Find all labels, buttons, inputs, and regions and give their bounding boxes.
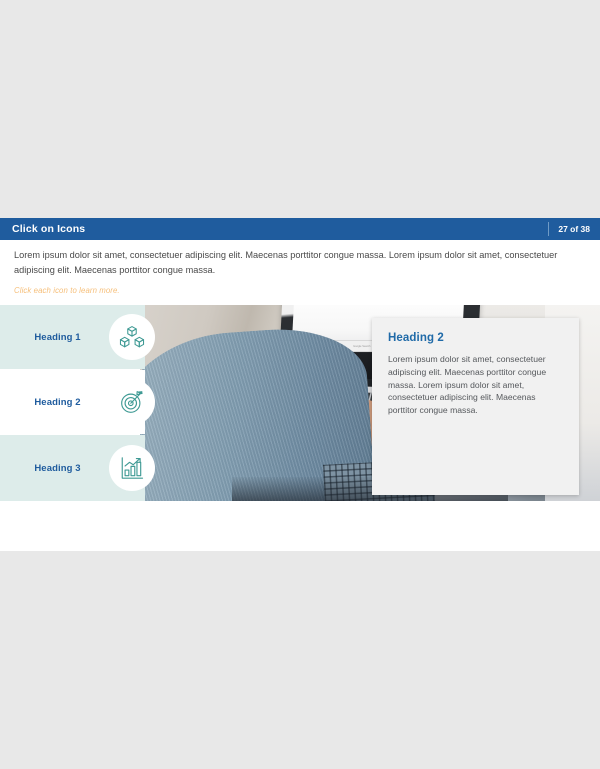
page-indicator: 27 of 38 bbox=[549, 224, 600, 234]
tab-heading-1[interactable]: Heading 1 bbox=[0, 305, 145, 369]
intro-block: Lorem ipsum dolor sit amet, consectetuer… bbox=[0, 240, 600, 295]
interactive-area: Google Search Heading 1 bbox=[0, 305, 600, 501]
intro-hint: Click each icon to learn more. bbox=[0, 277, 600, 295]
page-title: Click on Icons bbox=[0, 223, 548, 235]
slide-title-bar: Click on Icons 27 of 38 bbox=[0, 218, 600, 240]
cubes-stack-icon[interactable] bbox=[109, 314, 155, 360]
target-dart-icon[interactable] bbox=[109, 379, 155, 425]
info-card-heading: Heading 2 bbox=[388, 332, 563, 344]
info-card-body: Lorem ipsum dolor sit amet, consectetuer… bbox=[388, 353, 563, 417]
tab-heading-2[interactable]: Heading 2 bbox=[0, 370, 145, 434]
tab-heading-3[interactable]: Heading 3 bbox=[0, 435, 145, 501]
slide-canvas: Click on Icons 27 of 38 Lorem ipsum dolo… bbox=[0, 0, 600, 551]
intro-paragraph: Lorem ipsum dolor sit amet, consectetuer… bbox=[0, 240, 600, 277]
canvas-bottom-spacer bbox=[0, 501, 600, 551]
bar-chart-growth-icon[interactable] bbox=[109, 445, 155, 491]
photo-browser-search-label: Google Search bbox=[353, 345, 370, 348]
canvas-top-spacer bbox=[0, 0, 600, 218]
info-card: Heading 2 Lorem ipsum dolor sit amet, co… bbox=[372, 318, 579, 495]
icon-tab-list: Heading 1 bbox=[0, 305, 145, 501]
